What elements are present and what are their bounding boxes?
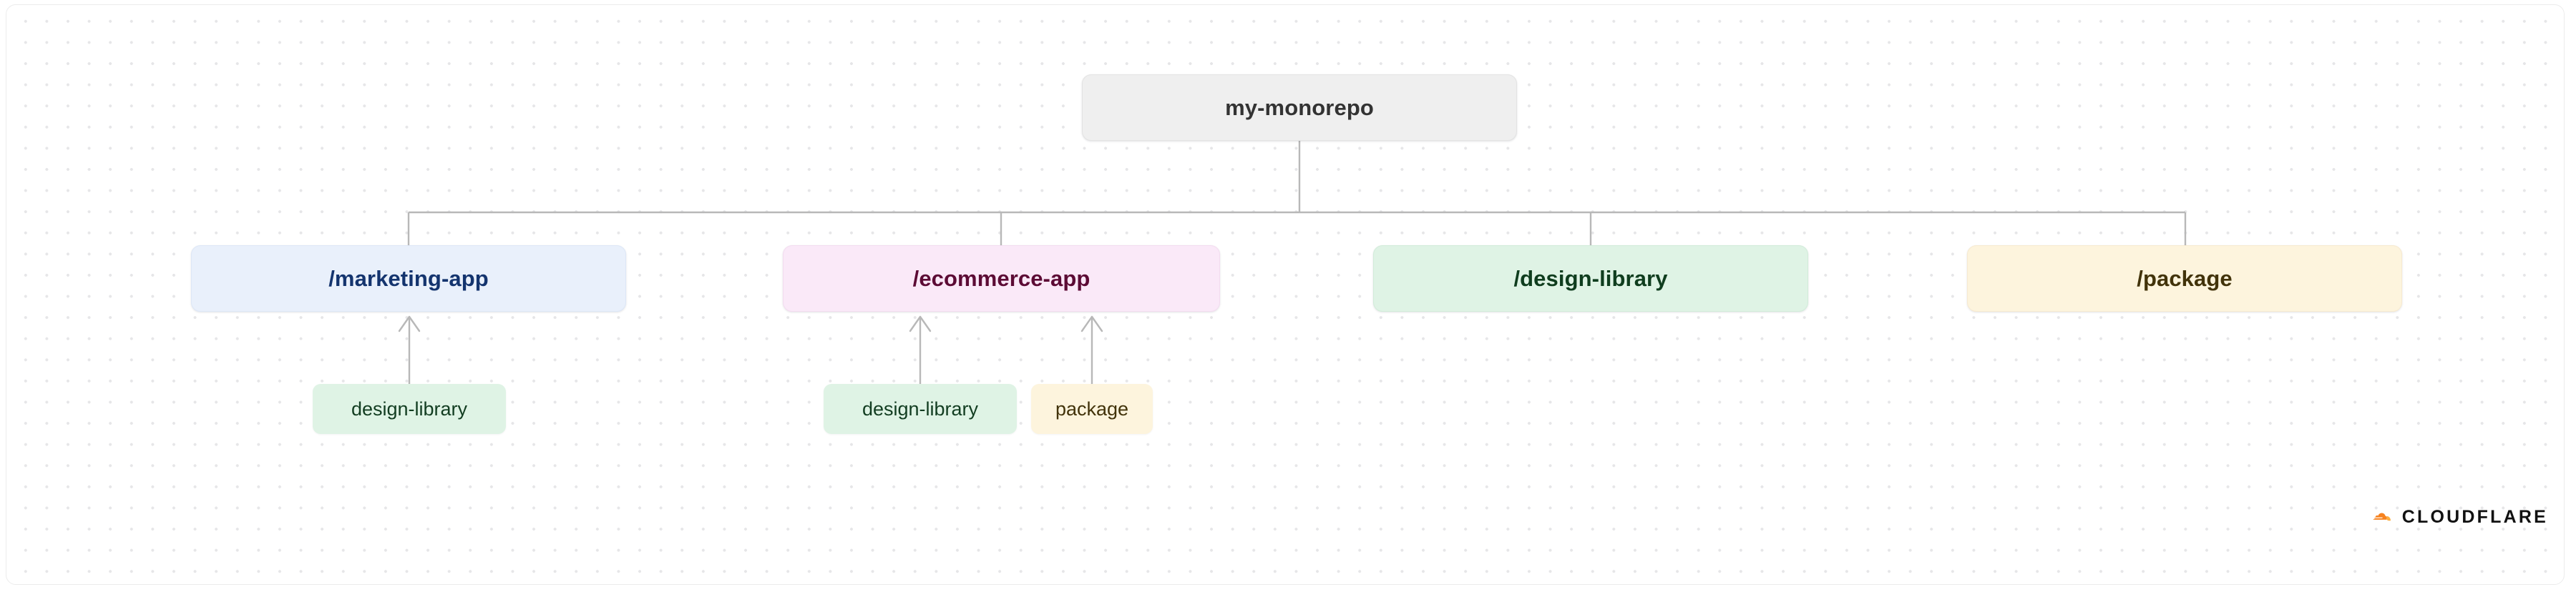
- arrowhead-ecommerce-design-library: [910, 317, 930, 331]
- node-label-marketing-app: /marketing-app: [328, 265, 489, 292]
- dependency-chip-label: design-library: [351, 400, 467, 419]
- diagram-canvas[interactable]: my-monorepo /marketing-app /ecommerce-ap…: [6, 4, 2565, 585]
- node-design-library[interactable]: /design-library: [1373, 245, 1808, 312]
- node-package[interactable]: /package: [1967, 245, 2402, 312]
- cloudflare-wordmark: CLOUDFLARE: [2402, 508, 2548, 526]
- node-label-my-monorepo: my-monorepo: [1225, 94, 1374, 121]
- node-label-design-library: /design-library: [1513, 265, 1667, 292]
- dependency-chip-ecommerce-design-library[interactable]: design-library: [824, 384, 1017, 434]
- dependency-chip-marketing-design-library[interactable]: design-library: [313, 384, 506, 434]
- arrowhead-marketing-design-library: [399, 317, 419, 331]
- node-marketing-app[interactable]: /marketing-app: [191, 245, 626, 312]
- arrowhead-ecommerce-package: [1082, 317, 1102, 331]
- node-my-monorepo[interactable]: my-monorepo: [1082, 74, 1517, 141]
- node-label-ecommerce-app: /ecommerce-app: [913, 265, 1091, 292]
- dependency-chip-ecommerce-package[interactable]: package: [1031, 384, 1153, 434]
- cloudflare-logo: CLOUDFLARE: [2369, 497, 2548, 537]
- node-label-package: /package: [2137, 265, 2233, 292]
- dependency-chip-label: package: [1055, 400, 1128, 419]
- dependency-chip-label: design-library: [862, 400, 978, 419]
- node-ecommerce-app[interactable]: /ecommerce-app: [783, 245, 1220, 312]
- diagram-stage: my-monorepo /marketing-app /ecommerce-ap…: [0, 0, 2576, 592]
- cloudflare-cloud-icon: [2369, 505, 2392, 529]
